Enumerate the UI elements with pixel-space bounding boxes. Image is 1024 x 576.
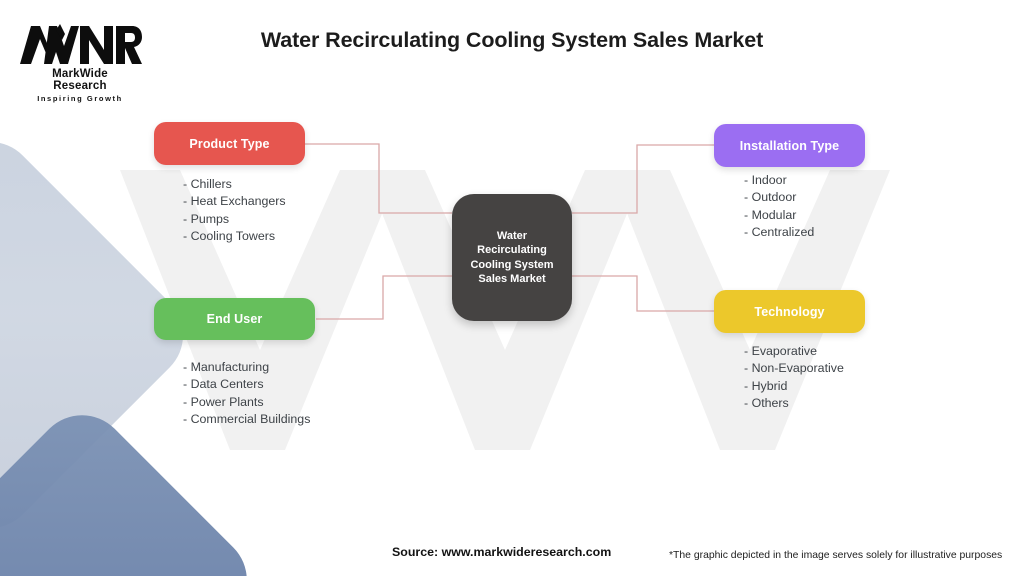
list-item: - Modular	[744, 207, 814, 224]
center-node-label: Water Recirculating Cooling System Sales…	[462, 229, 562, 287]
infographic-canvas: MarkWide Research Inspiring Growth Water…	[0, 0, 1024, 576]
source-text: Source: www.markwideresearch.com	[392, 545, 611, 559]
branch-items-end-user: - Manufacturing - Data Centers - Power P…	[183, 359, 310, 429]
list-item: - Indoor	[744, 172, 814, 189]
list-item: - Cooling Towers	[183, 228, 286, 245]
list-item: - Hybrid	[744, 378, 844, 395]
connector-installation-type	[572, 145, 714, 213]
center-node[interactable]: Water Recirculating Cooling System Sales…	[452, 194, 572, 321]
branch-node-installation-type[interactable]: Installation Type	[714, 124, 865, 167]
list-item: - Chillers	[183, 176, 286, 193]
branch-node-technology[interactable]: Technology	[714, 290, 865, 333]
branch-label-installation-type: Installation Type	[740, 139, 839, 153]
list-item: - Centralized	[744, 224, 814, 241]
list-item: - Heat Exchangers	[183, 193, 286, 210]
list-item: - Non-Evaporative	[744, 360, 844, 377]
branch-label-end-user: End User	[207, 312, 263, 326]
branch-label-technology: Technology	[754, 305, 824, 319]
connector-technology	[572, 276, 715, 311]
list-item: - Manufacturing	[183, 359, 310, 376]
list-item: - Evaporative	[744, 343, 844, 360]
list-item: - Power Plants	[183, 394, 310, 411]
list-item: - Data Centers	[183, 376, 310, 393]
list-item: - Commercial Buildings	[183, 411, 310, 428]
branch-items-installation-type: - Indoor - Outdoor - Modular - Centraliz…	[744, 172, 814, 242]
branch-items-product-type: - Chillers - Heat Exchangers - Pumps - C…	[183, 176, 286, 246]
branch-items-technology: - Evaporative - Non-Evaporative - Hybrid…	[744, 343, 844, 413]
branch-label-product-type: Product Type	[189, 137, 269, 151]
connector-end-user	[316, 276, 452, 319]
disclaimer-text: *The graphic depicted in the image serve…	[669, 550, 1002, 561]
list-item: - Outdoor	[744, 189, 814, 206]
connector-product-type	[305, 144, 452, 213]
branch-node-end-user[interactable]: End User	[154, 298, 315, 340]
list-item: - Pumps	[183, 211, 286, 228]
branch-node-product-type[interactable]: Product Type	[154, 122, 305, 165]
list-item: - Others	[744, 395, 844, 412]
